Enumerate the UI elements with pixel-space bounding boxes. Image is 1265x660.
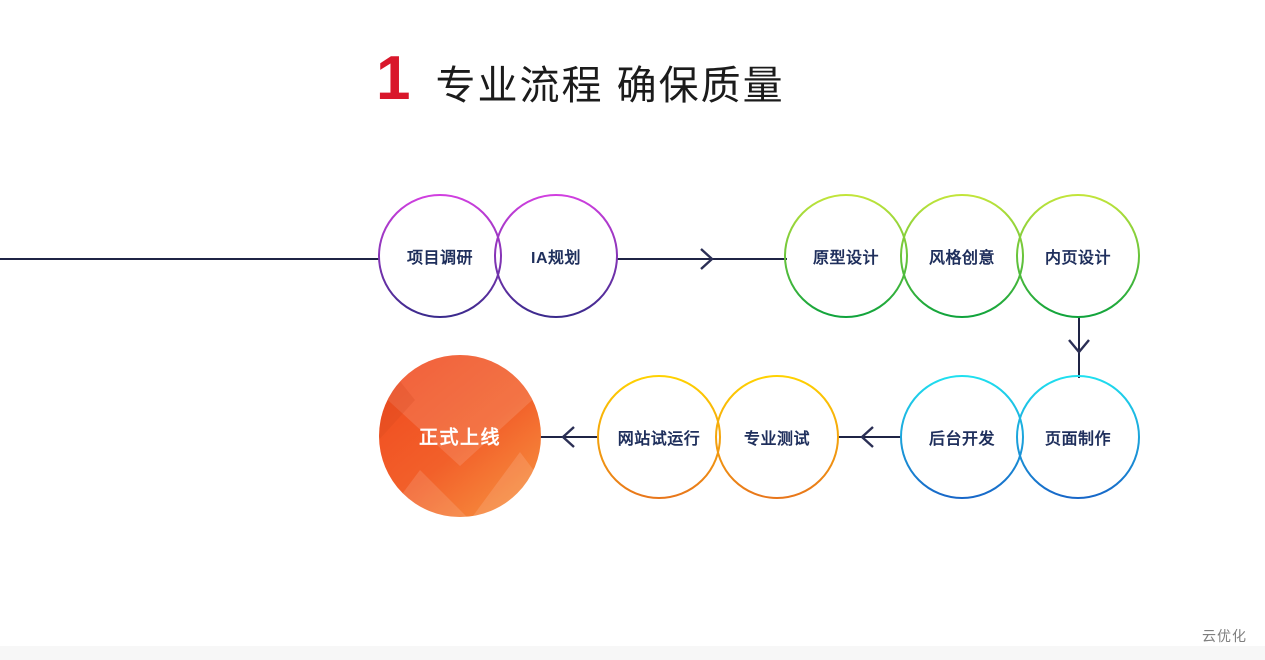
node-backend-development[interactable] (901, 376, 1023, 498)
connector-testing-to-launch (538, 427, 599, 447)
group-development (901, 376, 1139, 498)
slide-canvas: 1 专业流程 确保质量 (0, 0, 1265, 660)
bottom-strip (0, 646, 1265, 660)
node-official-launch[interactable] (379, 355, 541, 525)
connector-design-to-development (1069, 316, 1089, 378)
node-inner-page-design[interactable] (1017, 195, 1139, 317)
connector-research-to-design (617, 249, 787, 269)
node-prototype-design[interactable] (785, 195, 907, 317)
node-page-production[interactable] (1017, 376, 1139, 498)
node-project-research[interactable] (379, 195, 501, 317)
group-testing (598, 376, 838, 498)
connector-development-to-testing (838, 427, 901, 447)
process-flow-diagram (0, 0, 1265, 660)
watermark: 云优化 (1202, 626, 1247, 646)
node-professional-test[interactable] (716, 376, 838, 498)
group-design (785, 195, 1139, 317)
group-research (379, 195, 617, 317)
node-site-trial-run[interactable] (598, 376, 720, 498)
node-ia-planning[interactable] (495, 195, 617, 317)
node-style-creative[interactable] (901, 195, 1023, 317)
